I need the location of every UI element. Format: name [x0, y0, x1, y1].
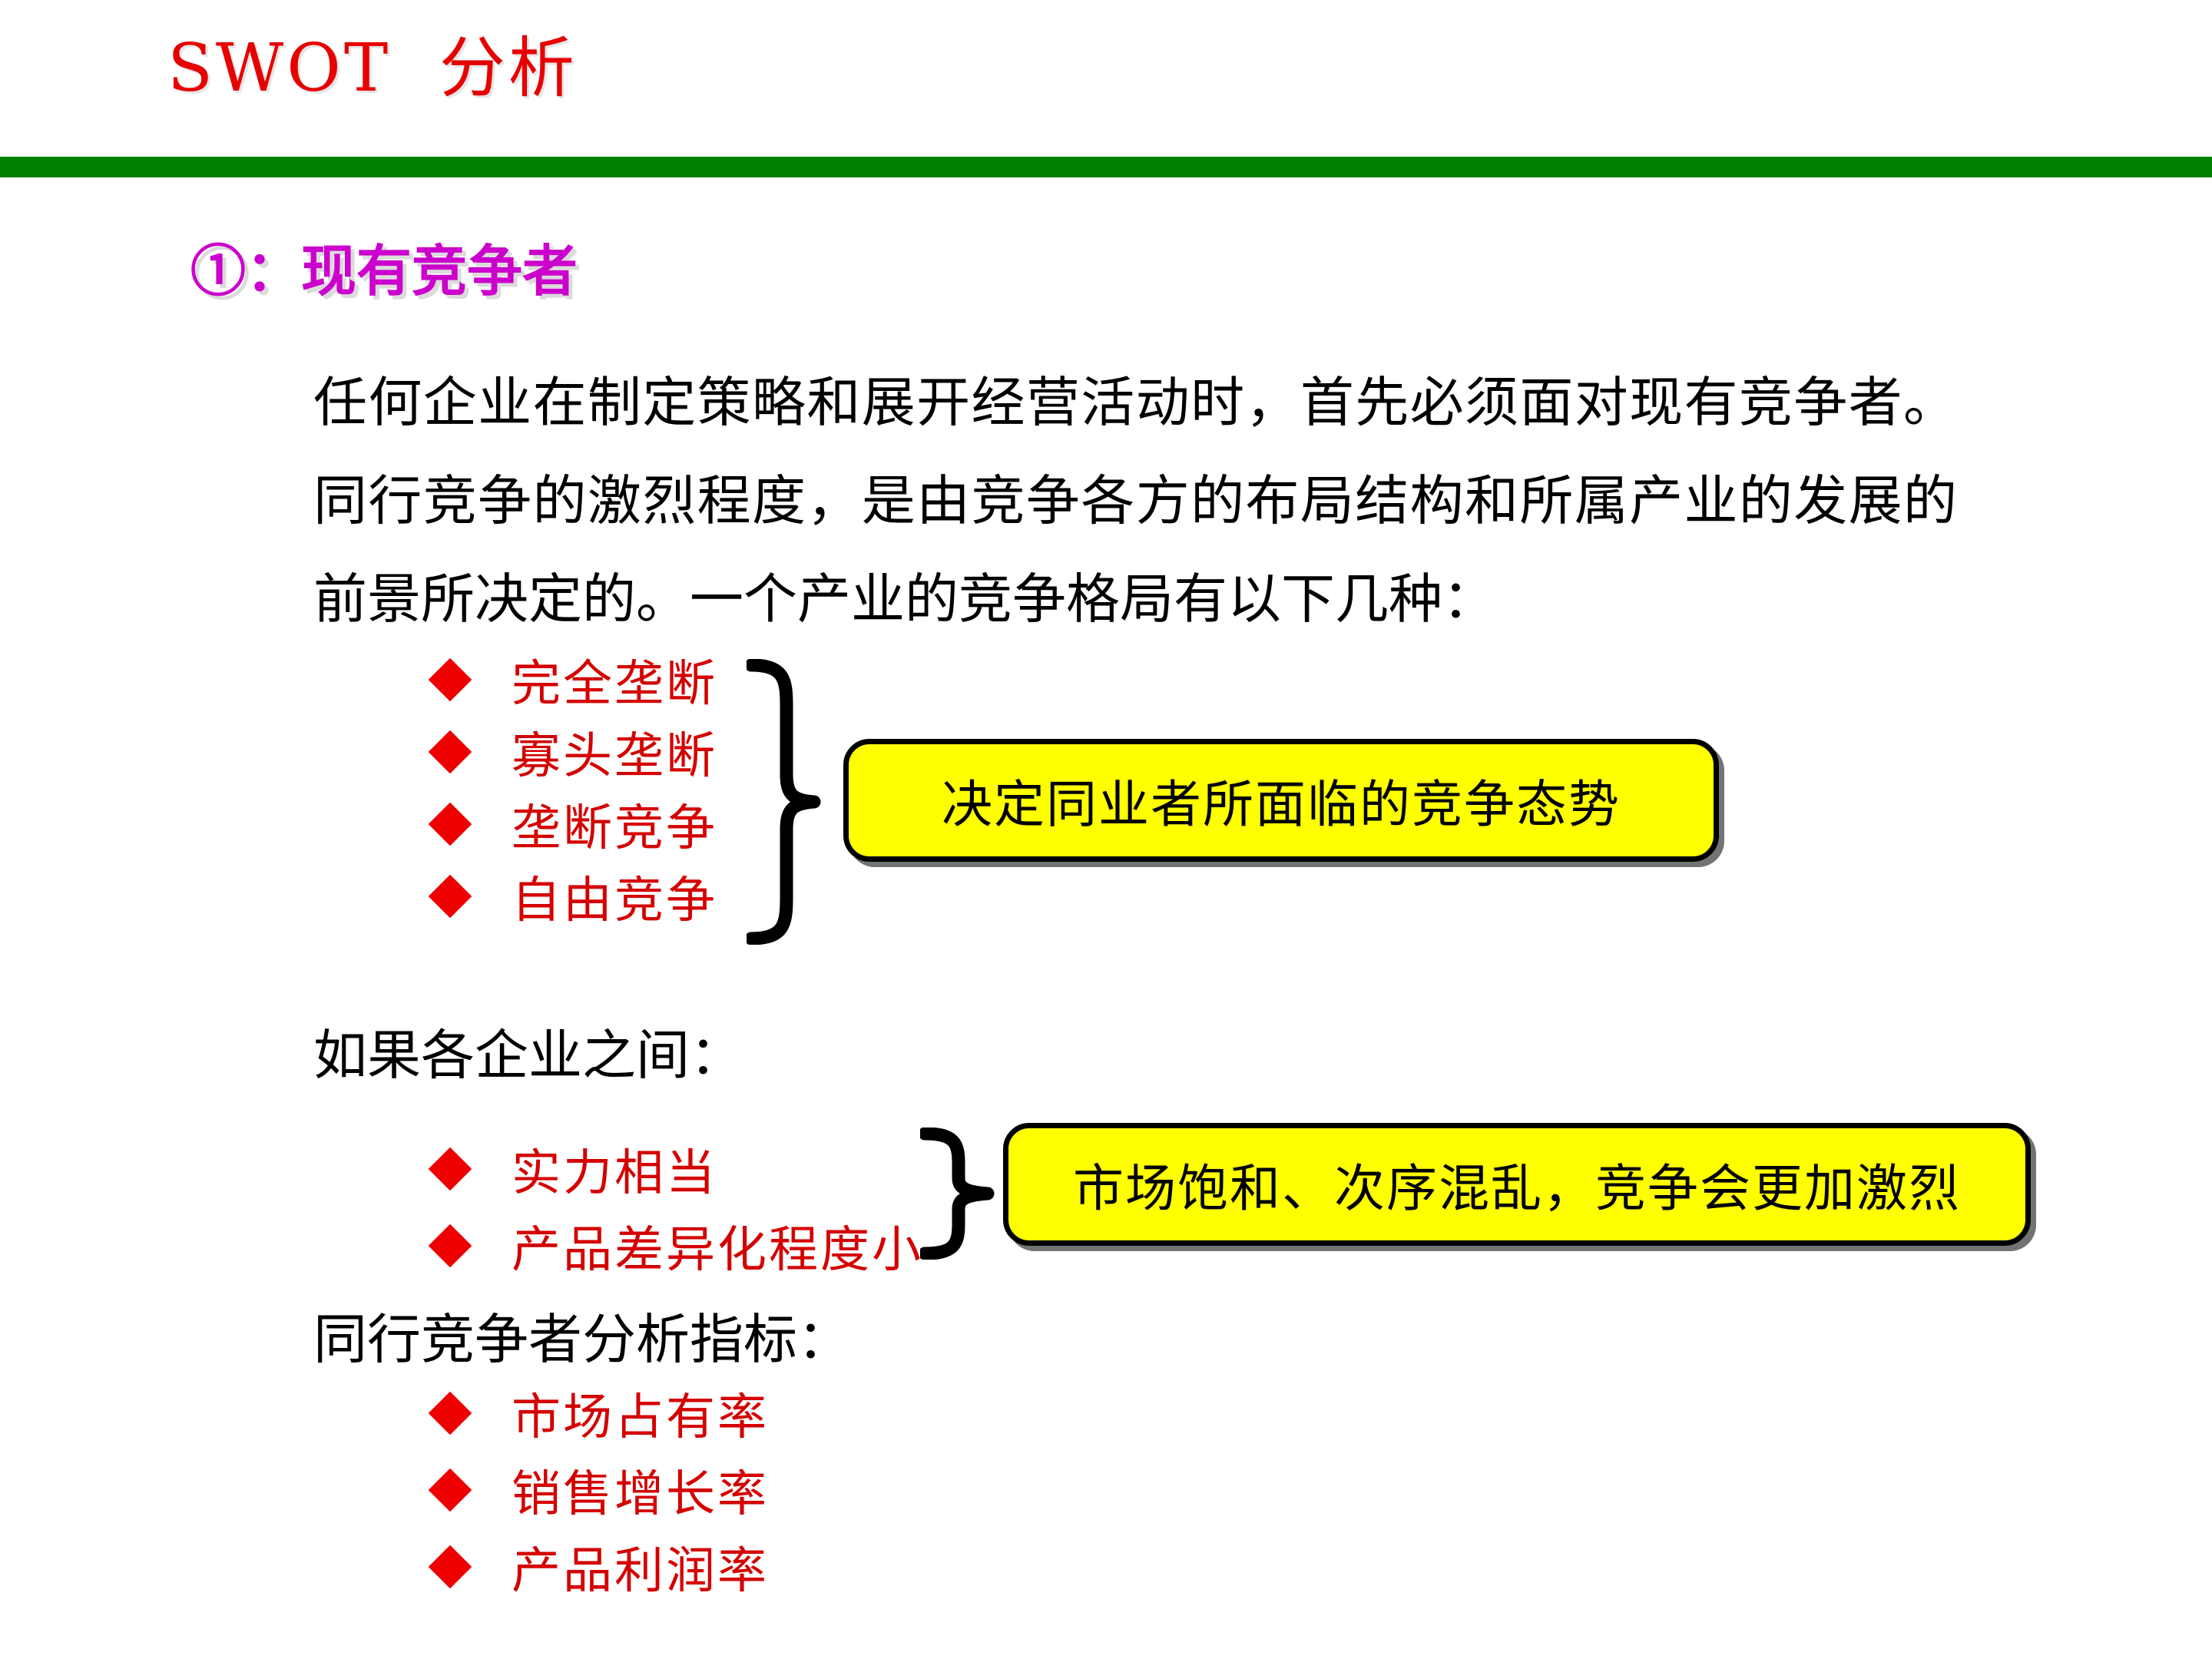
callout-text: 市场饱和、次序混乱，竞争会更加激烈 [1073, 1147, 1961, 1221]
section-heading: ①：现有竞争者 [190, 226, 578, 306]
diamond-bullet-icon [429, 1469, 472, 1512]
list-item: 寡头垄断 [435, 716, 717, 788]
diamond-bullet-icon [429, 730, 472, 774]
callout-box-competition: 决定同业者所面临的竞争态势 [843, 739, 1719, 862]
section-paragraph: 任何企业在制定策略和展开经营活动时，首先必须面对现有竞争者。同行竞争的激烈程度，… [313, 353, 1957, 648]
header-divider-rule [0, 157, 2212, 177]
slide-title: SWOT 分析 [167, 34, 578, 103]
list-item-label: 实力相当 [512, 1134, 717, 1204]
diamond-bullet-icon [429, 1545, 472, 1589]
right-curly-brace-icon [747, 659, 823, 945]
diamond-bullet-icon [429, 1224, 472, 1268]
list-item-label: 垄断竞争 [512, 789, 717, 859]
callout-text: 决定同业者所面临的竞争态势 [942, 763, 1621, 837]
diamond-bullet-icon [429, 658, 472, 702]
list-item: 产品利润率 [435, 1528, 769, 1605]
diamond-bullet-icon [429, 1147, 472, 1191]
diamond-bullet-icon [429, 875, 472, 919]
list-item: 完全垄断 [435, 644, 717, 716]
right-curly-brace-icon [920, 1128, 997, 1260]
diamond-bullet-icon [429, 803, 472, 846]
callout-box-between: 市场饱和、次序混乱，竞争会更加激烈 [1003, 1123, 2031, 1246]
list-item: 销售增长率 [435, 1452, 769, 1528]
list-item: 垄断竞争 [435, 788, 717, 860]
list-item-label: 完全垄断 [512, 644, 717, 715]
lead-in-indicators: 同行竞争者分析指标： [313, 1296, 851, 1374]
list-item: 实力相当 [435, 1131, 923, 1207]
slide-canvas: SWOT 分析 ①：现有竞争者 任何企业在制定策略和展开经营活动时，首先必须面对… [0, 0, 2212, 1659]
list-item-label: 自由竞争 [512, 861, 717, 932]
list-item: 市场占有率 [435, 1375, 769, 1452]
list-item-label: 寡头垄断 [512, 717, 717, 787]
list-item-label: 市场占有率 [512, 1378, 769, 1449]
indicator-list: 市场占有率 销售增长率 产品利润率 [435, 1375, 769, 1605]
lead-in-between-enterprises: 如果各企业之间： [313, 1012, 743, 1090]
diamond-bullet-icon [429, 1392, 472, 1435]
competition-type-list: 完全垄断 寡头垄断 垄断竞争 自由竞争 [435, 644, 717, 932]
list-item-label: 产品利润率 [512, 1532, 769, 1602]
list-item: 自由竞争 [435, 860, 717, 932]
list-item-label: 销售增长率 [512, 1455, 769, 1525]
between-enterprises-list: 实力相当 产品差异化程度小 [435, 1131, 923, 1284]
list-item-label: 产品差异化程度小 [512, 1210, 923, 1281]
list-item: 产品差异化程度小 [435, 1207, 923, 1284]
